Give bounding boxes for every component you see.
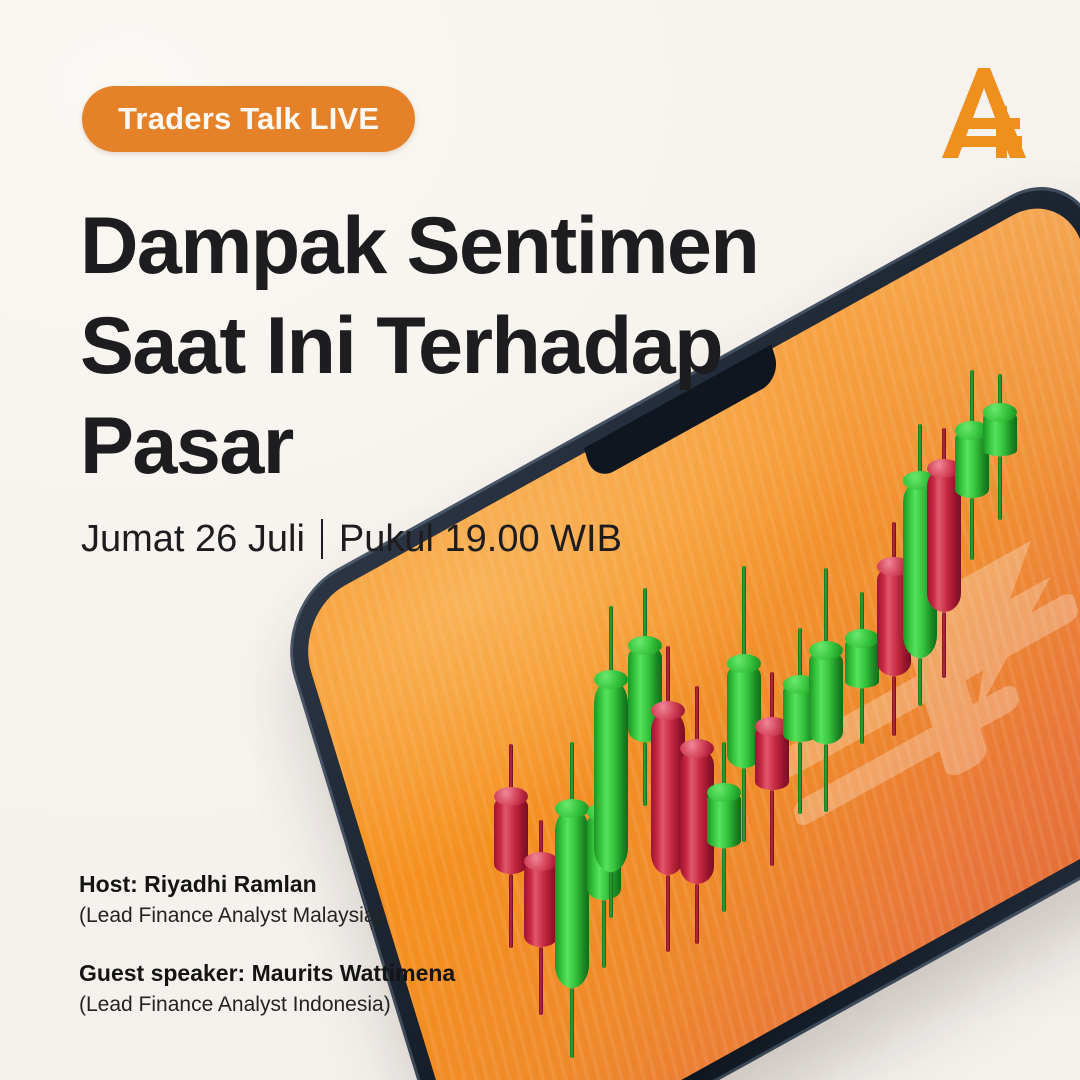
candle-wick-lower <box>602 900 606 968</box>
candle-top-ellipse <box>494 787 528 806</box>
candle-body <box>594 679 628 872</box>
headline-line-3: Pasar <box>80 396 800 496</box>
candle-top-ellipse <box>680 739 714 758</box>
candle-top-ellipse <box>555 799 589 818</box>
candle-wick-lower <box>666 875 670 952</box>
candle-body <box>494 796 528 874</box>
live-badge-label: Traders Talk LIVE <box>118 101 379 137</box>
host-role: (Lead Finance Analyst Malaysia) <box>79 900 455 931</box>
candle-wick-upper <box>742 566 746 663</box>
candlestick-green <box>707 792 741 848</box>
guest-name: Guest speaker: Maurits Wattimena <box>79 957 455 989</box>
candlestick-green <box>809 650 843 744</box>
host-name: Host: Riyadhi Ramlan <box>79 868 455 900</box>
credit-item: Guest speaker: Maurits Wattimena (Lead F… <box>79 957 455 1020</box>
candle-wick-lower <box>998 456 1002 520</box>
guest-role: (Lead Finance Analyst Indonesia) <box>79 989 455 1020</box>
candlestick-green <box>983 412 1017 456</box>
candle-wick-lower <box>770 790 774 866</box>
credit-item: Host: Riyadhi Ramlan (Lead Finance Analy… <box>79 868 455 931</box>
candle-body <box>983 412 1017 456</box>
candle-top-ellipse <box>628 636 662 655</box>
candlestick-red <box>494 796 528 874</box>
brand-logo-a-icon <box>932 62 1036 162</box>
candlestick-red <box>524 861 558 947</box>
candlestick-green <box>845 638 879 688</box>
candle-top-ellipse <box>651 701 685 720</box>
headline-line-1: Dampak Sentimen <box>80 196 800 296</box>
candle-wick-lower <box>798 742 802 814</box>
candle-top-ellipse <box>707 783 741 802</box>
candle-wick-lower <box>742 768 746 842</box>
headline-line-2: Saat Ini Terhadap <box>80 296 800 396</box>
candle-top-ellipse <box>524 852 558 871</box>
candle-top-ellipse <box>727 654 761 673</box>
candle-top-ellipse <box>594 670 628 689</box>
candle-wick-lower <box>970 498 974 560</box>
candle-body <box>524 861 558 947</box>
candlestick-green <box>594 679 628 872</box>
event-schedule: Jumat 26 Juli Pukul 19.00 WIB <box>81 515 622 563</box>
candle-wick-upper <box>824 568 828 650</box>
candle-wick-lower <box>860 688 864 744</box>
schedule-separator <box>321 519 323 559</box>
live-badge: Traders Talk LIVE <box>82 86 415 152</box>
event-time: Pukul 19.00 WIB <box>339 515 622 563</box>
candle-top-ellipse <box>809 641 843 660</box>
candle-wick-lower <box>695 884 699 944</box>
candle-wick-lower <box>539 947 543 1015</box>
candle-body <box>707 792 741 848</box>
page-title: Dampak Sentimen Saat Ini Terhadap Pasar <box>80 196 800 496</box>
candle-wick-lower <box>942 612 946 678</box>
event-date: Jumat 26 Juli <box>81 515 305 563</box>
candlestick-green <box>555 808 589 988</box>
candle-body <box>809 650 843 744</box>
candle-wick-lower <box>570 988 574 1058</box>
candle-body <box>845 638 879 688</box>
candle-wick-lower <box>643 742 647 806</box>
candle-wick-lower <box>918 658 922 706</box>
candle-wick-upper <box>609 606 613 679</box>
candle-wick-lower <box>609 872 613 918</box>
candle-wick-lower <box>509 874 513 948</box>
candle-wick-lower <box>892 676 896 736</box>
promo-poster: Traders Talk LIVE Dampak Sentimen Saat I… <box>0 0 1080 1080</box>
candle-top-ellipse <box>983 403 1017 422</box>
candle-body <box>555 808 589 988</box>
speaker-credits: Host: Riyadhi Ramlan (Lead Finance Analy… <box>79 868 455 1020</box>
candle-wick-lower <box>722 848 726 912</box>
candle-wick-lower <box>824 744 828 812</box>
candle-top-ellipse <box>845 629 879 648</box>
